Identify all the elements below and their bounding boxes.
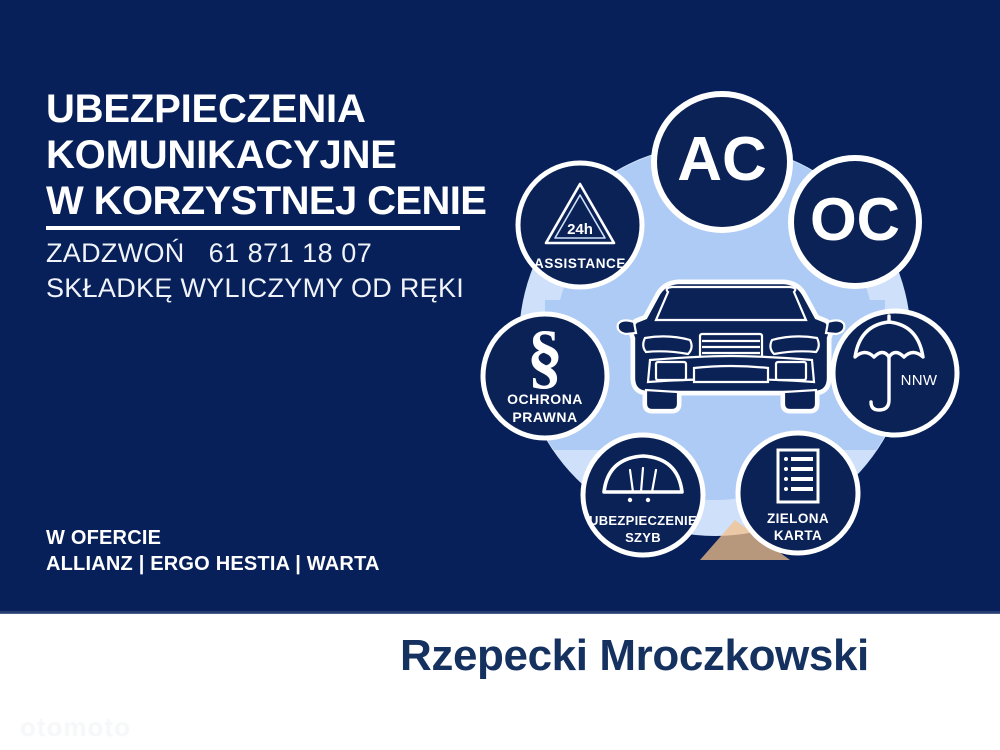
offer-label: W OFERCIE — [46, 525, 380, 551]
badge-ochrona-prawna[interactable]: § OCHRONA PRAWNA — [483, 314, 607, 438]
badge-nnw[interactable]: NNW — [833, 311, 957, 435]
car-headlight-left — [643, 336, 691, 354]
car-mirror-right — [826, 320, 844, 334]
badge-assistance-24h: 24h — [567, 221, 593, 238]
badge-ac[interactable]: AC — [654, 94, 790, 230]
car-fog-left — [656, 362, 686, 380]
panel-divider — [0, 611, 1000, 614]
badge-assistance[interactable]: 24h ASSISTANCE — [518, 163, 642, 287]
car-windscreen — [656, 287, 806, 320]
headline-line-1: UBEZPIECZENIA — [46, 86, 476, 132]
paragraph-section-icon: § — [527, 316, 563, 396]
insurance-infographic: AC OC 24h ASSISTANCE § OCHR — [480, 80, 980, 600]
offer-insurers: ALLIANZ | ERGO HESTIA | WARTA — [46, 551, 380, 577]
car-mirror-left — [618, 320, 636, 334]
headline-line-3: W KORZYSTNEJ CENIE — [46, 178, 476, 224]
car-front-icon — [618, 283, 845, 410]
car-fog-right — [776, 362, 806, 380]
badge-ochrona-label-1: OCHRONA — [507, 391, 583, 407]
badge-szyb-label-2: SZYB — [625, 530, 661, 545]
badge-zielona-label-1: ZIELONA — [767, 511, 829, 526]
badge-oc[interactable]: OC — [791, 158, 919, 286]
headline-line-2: KOMUNIKACYJNE — [46, 132, 476, 178]
badge-assistance-label: ASSISTANCE — [534, 256, 626, 271]
call-to-action: ZADZWOŃ61 871 18 07 SKŁADKĘ WYLICZYMY OD… — [46, 236, 486, 306]
badge-ochrona-label-2: PRAWNA — [512, 409, 577, 425]
offer-block: W OFERCIE ALLIANZ | ERGO HESTIA | WARTA — [46, 525, 380, 577]
badge-oc-text: OC — [810, 186, 900, 253]
badge-szyb-label-1: UBEZPIECZENIE — [589, 513, 697, 528]
car-headlight-right — [770, 336, 818, 354]
badge-zielona-karta[interactable]: ZIELONA KARTA — [738, 433, 858, 553]
call-label: ZADZWOŃ — [46, 238, 185, 268]
quote-line: SKŁADKĘ WYLICZYMY OD RĘKI — [46, 271, 486, 306]
badge-zielona-label-2: KARTA — [774, 528, 822, 543]
badge-ubezpieczenie-szyb[interactable]: UBEZPIECZENIE SZYB — [583, 435, 703, 555]
brand-name: Rzepecki Mroczkowski — [400, 631, 869, 681]
badge-nnw-text: NNW — [901, 372, 938, 389]
watermark: otomoto — [20, 712, 131, 743]
call-line: ZADZWOŃ61 871 18 07 — [46, 236, 486, 271]
phone-number[interactable]: 61 871 18 07 — [209, 238, 373, 268]
insurance-ad-banner: UBEZPIECZENIA KOMUNIKACYJNE W KORZYSTNEJ… — [0, 0, 1000, 750]
car-air-intake — [694, 366, 768, 382]
headline-divider-rule — [46, 226, 460, 230]
badge-ac-text: AC — [677, 125, 767, 194]
page-title: UBEZPIECZENIA KOMUNIKACYJNE W KORZYSTNEJ… — [46, 86, 476, 224]
